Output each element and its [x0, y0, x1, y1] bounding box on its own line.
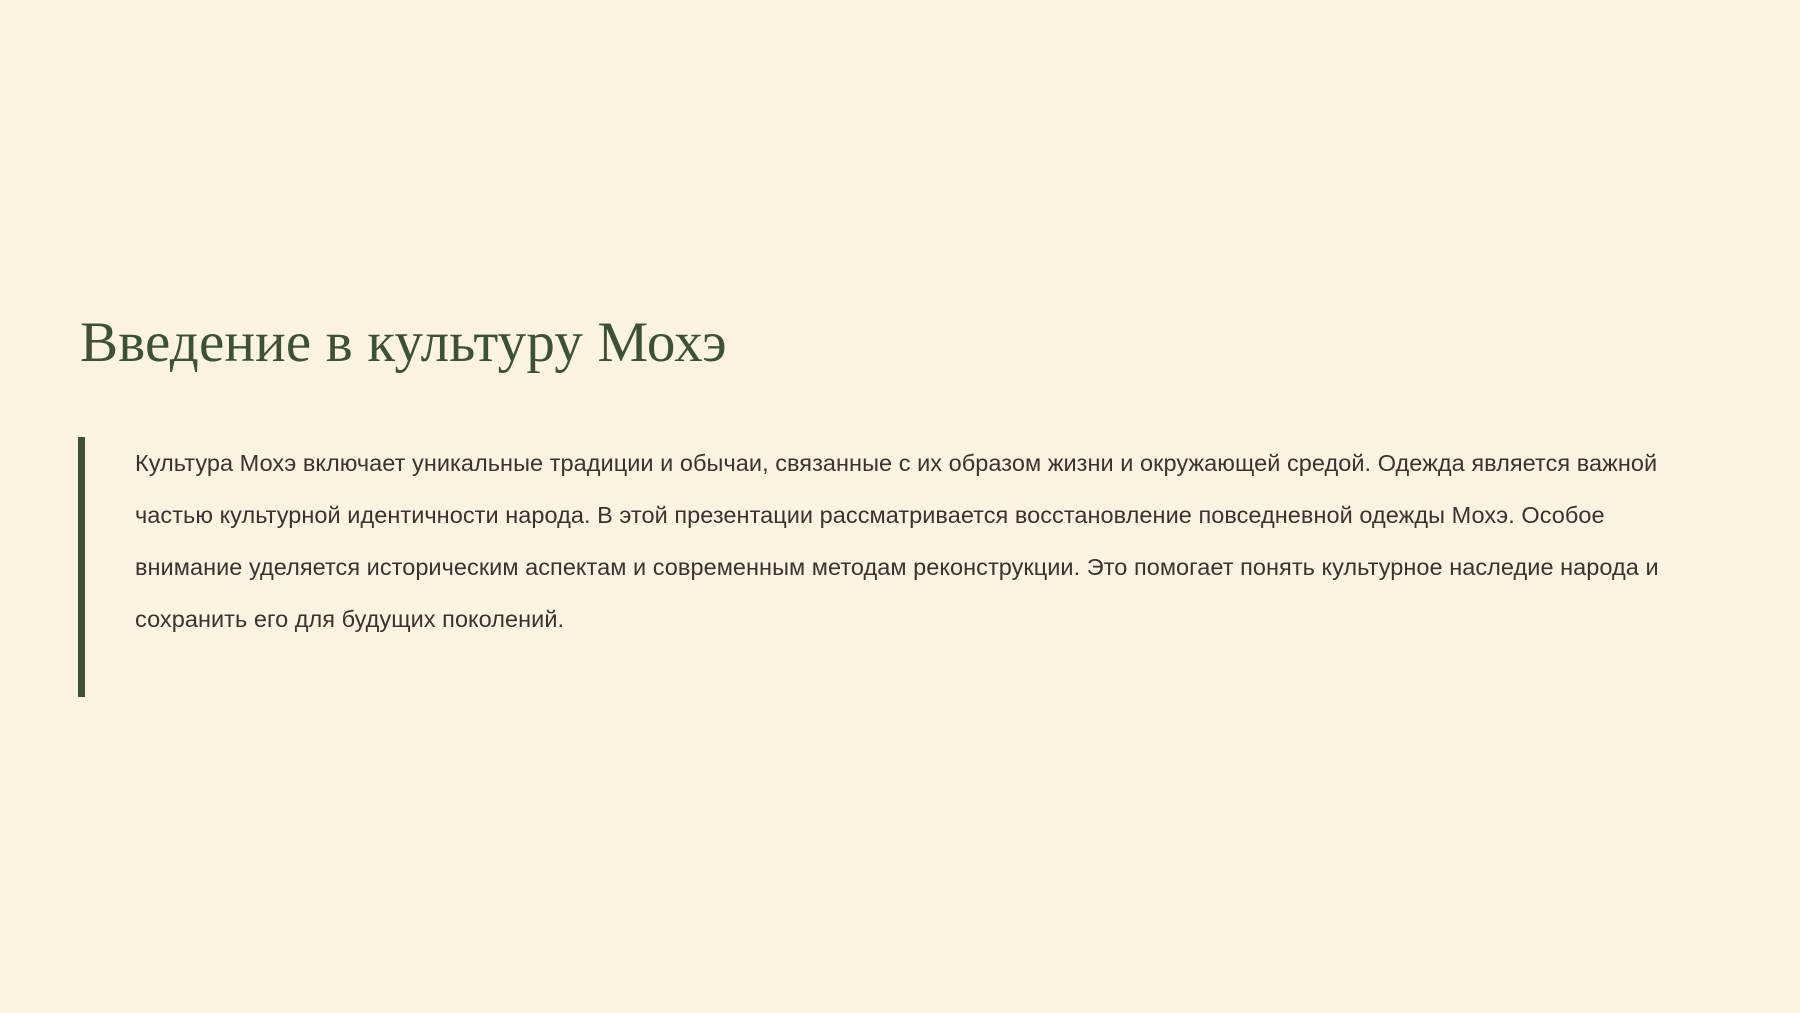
slide-content-area: Введение в культуру Мохэ Культура Мохэ в… — [0, 0, 1800, 1013]
page-title: Введение в культуру Мохэ — [80, 311, 1680, 375]
body-quote-block: Культура Мохэ включает уникальные традиц… — [78, 437, 1718, 697]
accent-bar — [78, 437, 85, 697]
body-paragraph: Культура Мохэ включает уникальные традиц… — [85, 437, 1695, 697]
presentation-slide: Введение в культуру Мохэ Культура Мохэ в… — [0, 0, 1800, 1013]
